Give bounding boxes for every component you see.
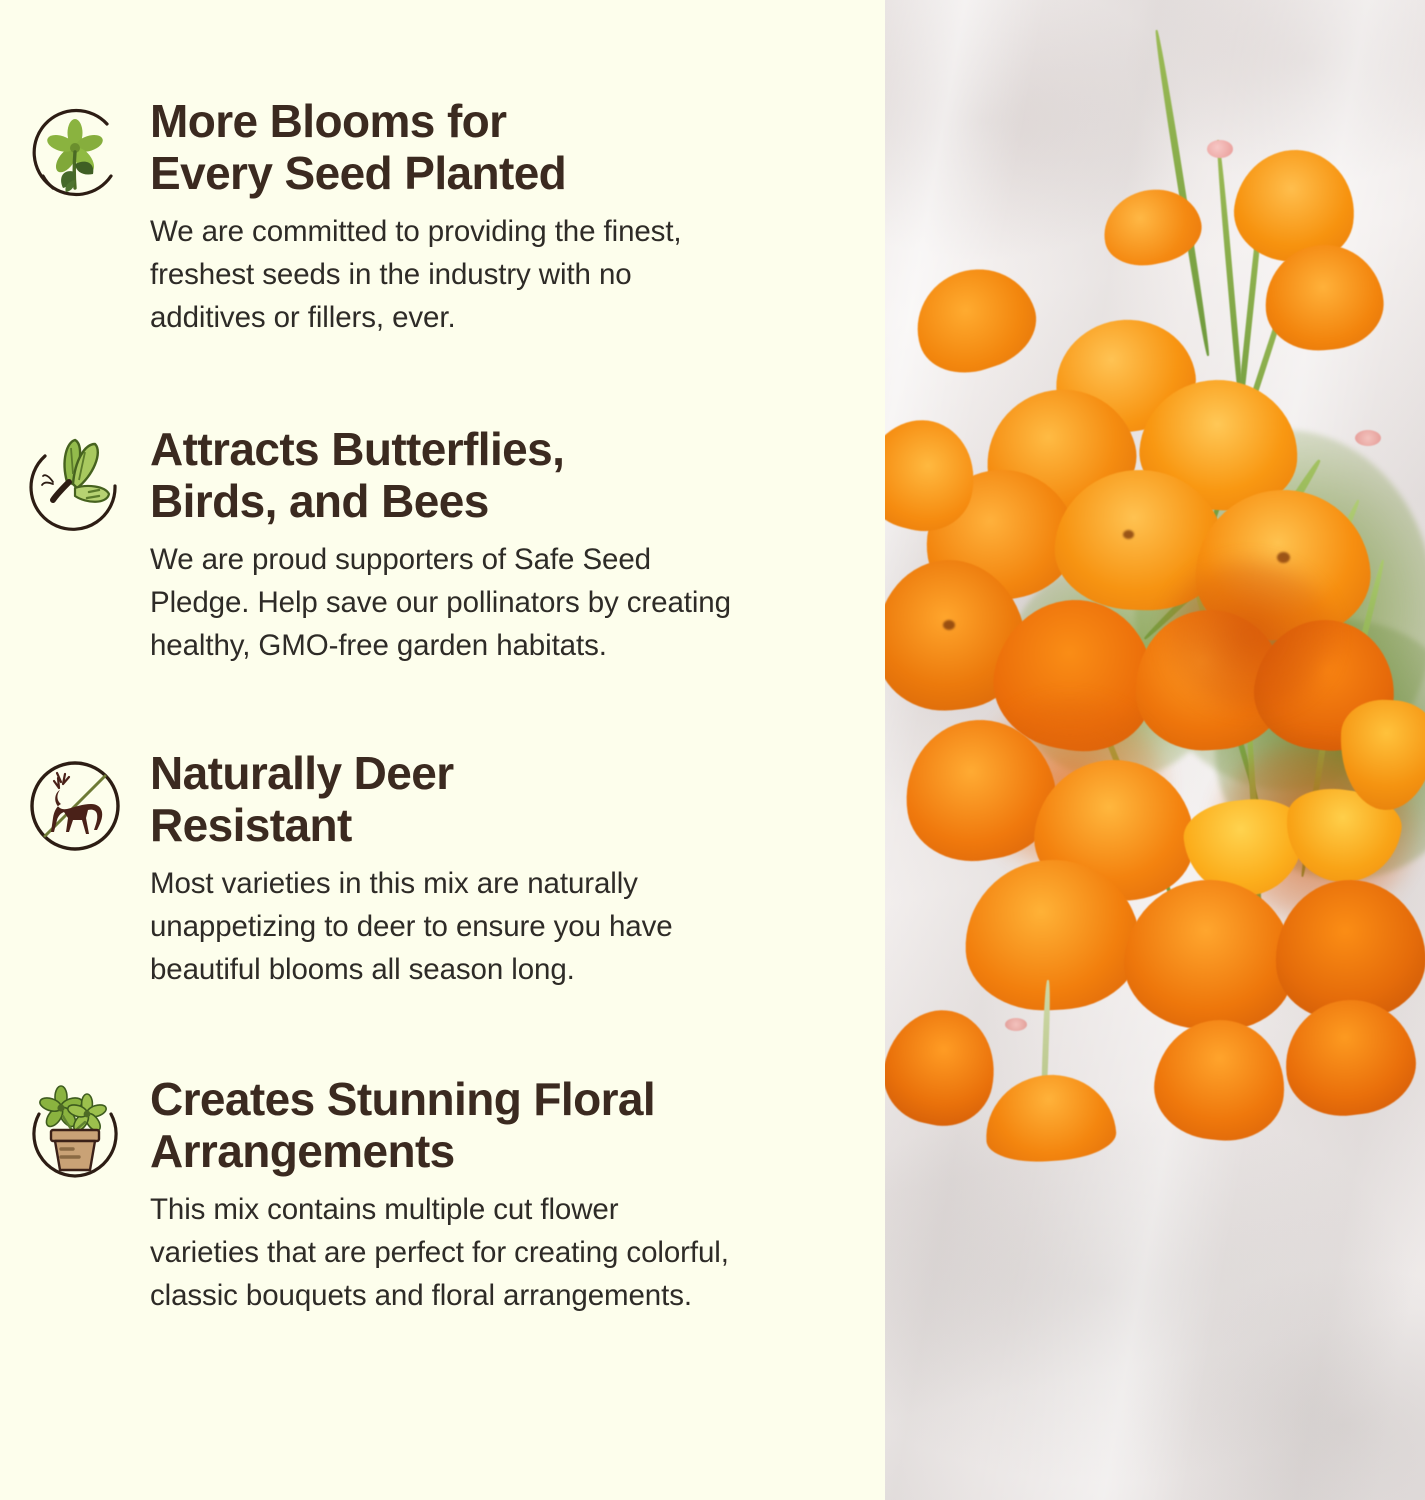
poppy-bloom [902,254,1047,386]
feature-text-cell: Creates Stunning Floral Arrangements Thi… [150,1074,885,1317]
feature-text-cell: Attracts Butterflies, Birds, and Bees We… [150,424,885,667]
butterfly-icon [23,430,127,534]
feature-title: More Blooms for Every Seed Planted [150,96,849,199]
potted-plant-icon [23,1080,127,1184]
features-panel: More Blooms for Every Seed Planted We ar… [0,0,885,1500]
poppy-bloom-hanging [982,1071,1118,1166]
pink-bud [1005,1018,1027,1031]
feature-body: We are committed to providing the finest… [150,211,849,339]
feature-icon-cell [0,96,150,206]
poppy-bloom-hanging [1278,993,1421,1123]
poppy-shadow-mass [1165,560,1335,710]
pink-bud [1355,430,1381,446]
poppy-bouquet [885,0,1425,1230]
poppy-center [943,620,955,630]
poppy-center [1123,530,1134,539]
feature-item-attracts-pollinators: Attracts Butterflies, Birds, and Bees We… [0,424,885,667]
poppy-center [1277,552,1290,563]
feature-item-more-blooms: More Blooms for Every Seed Planted We ar… [0,96,885,339]
product-feature-infographic: More Blooms for Every Seed Planted We ar… [0,0,1425,1500]
feature-text-cell: More Blooms for Every Seed Planted We ar… [150,96,885,339]
feature-title: Creates Stunning Floral Arrangements [150,1074,849,1177]
feature-icon-cell [0,748,150,858]
feature-icon-cell [0,424,150,534]
feature-text-cell: Naturally Deer Resistant Most varieties … [150,748,885,991]
feature-body: Most varieties in this mix are naturally… [150,863,849,991]
poppy-bloom-hanging [1149,1014,1291,1147]
feature-item-deer-resistant: Naturally Deer Resistant Most varieties … [0,748,885,991]
feature-body: We are proud supporters of Safe Seed Ple… [150,539,849,667]
poppy-bouquet-photo [885,0,1425,1500]
no-deer-icon [23,754,127,858]
flower-sprout-icon [23,102,127,206]
feature-item-floral-arrangements: Creates Stunning Floral Arrangements Thi… [0,1074,885,1317]
feature-title: Attracts Butterflies, Birds, and Bees [150,424,849,527]
feature-body: This mix contains multiple cut flower va… [150,1189,849,1317]
poppy-bud [1207,140,1233,158]
feature-icon-cell [0,1074,150,1184]
poppy-bloom [885,1000,1006,1135]
feature-title: Naturally Deer Resistant [150,748,849,851]
